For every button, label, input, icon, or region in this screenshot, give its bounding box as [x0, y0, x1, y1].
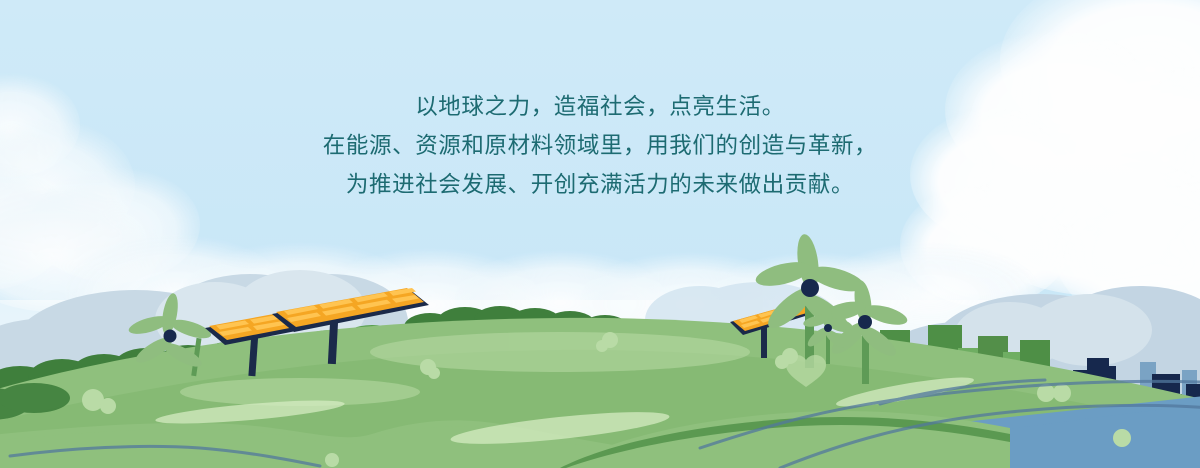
eco-vision-banner: 以地球之力，造福社会，点亮生活。 在能源、资源和原材料领域里，用我们的创造与革新…	[0, 0, 1200, 468]
landscape-illustration	[0, 0, 1200, 468]
